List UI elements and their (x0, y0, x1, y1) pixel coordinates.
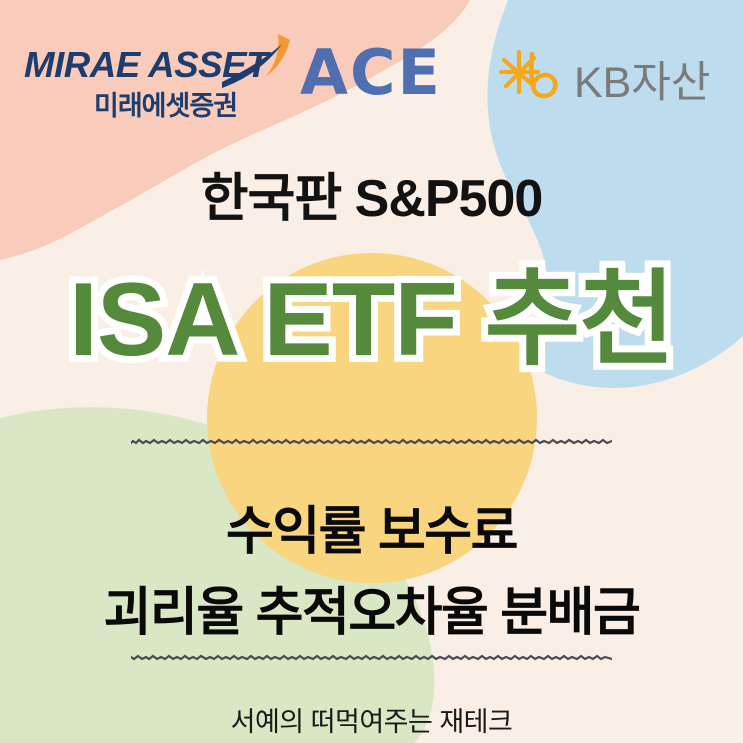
body-line-2: 괴리율 추적오차율 분배금 (0, 573, 743, 654)
divider-bottom (131, 654, 612, 662)
kb-star-icon (498, 46, 570, 104)
footer-byline: 서예의 떠먹여주는 재테크 (0, 700, 743, 739)
logo-ace: ACE (300, 36, 470, 114)
thumbnail-canvas: MIRAE ASSET 미래에셋증권 ACE KB자산 한국판 S&P500 I… (0, 0, 743, 743)
brand-logo-strip: MIRAE ASSET 미래에셋증권 ACE KB자산 (0, 26, 743, 118)
body-text-block: 수익률 보수료 괴리율 추적오차율 분배금 (0, 492, 743, 653)
mirae-korean-name: 미래에셋증권 (94, 84, 237, 123)
kb-wordmark: KB자산 (574, 48, 710, 110)
logo-mirae-asset: MIRAE ASSET 미래에셋증권 (16, 42, 280, 116)
main-title: ISA ETF 추천 (0, 262, 743, 378)
ace-wordmark: ACE (300, 36, 442, 109)
logo-kb-asset: KB자산 (492, 44, 743, 114)
divider-top (131, 438, 612, 446)
subtitle-text: 한국판 S&P500 (0, 156, 743, 231)
body-line-1: 수익률 보수료 (0, 492, 743, 573)
mirae-wordmark: MIRAE ASSET (24, 44, 268, 86)
